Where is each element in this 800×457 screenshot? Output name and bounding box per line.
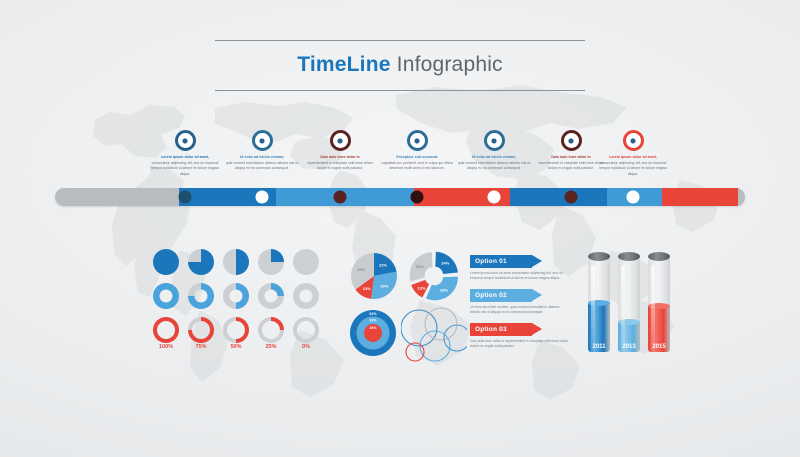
header-rule-bottom (215, 90, 585, 91)
timeline-marker-icon (484, 130, 505, 151)
tube-bar-chart: 201120132015 (588, 252, 678, 357)
percent-circle[interactable] (257, 316, 285, 344)
percent-circle-label: 100% (150, 344, 182, 350)
timeline-item-heading: Ut enim ad minim veniam, (451, 155, 537, 160)
timeline-item-heading: Lorem ipsum dolor sit amet, (142, 155, 228, 160)
tube-bar[interactable]: 2013 (618, 252, 640, 352)
tube-glass: 2013 (618, 257, 640, 352)
svg-text:62%: 62% (369, 312, 377, 316)
timeline-item[interactable]: Lorem ipsum dolor sit amet,consectetur a… (590, 130, 676, 177)
concentric-circles-chart[interactable]: 62%33%26% (347, 306, 403, 362)
percent-circle[interactable] (292, 248, 320, 276)
percent-circle[interactable] (222, 316, 250, 344)
timeline-item-body: reprehenderit in voluptate velit esse ci… (297, 161, 383, 171)
timeline-item-heading: Excepteur sint occaecat (374, 155, 460, 160)
timeline-marker-dot (415, 138, 420, 143)
timeline-marker-dot (492, 138, 497, 143)
timeline-node[interactable] (411, 191, 424, 204)
options-list: Option 01Lorem ipsum dolor sit amet cons… (470, 255, 575, 355)
percent-circle-column: 50% (220, 248, 252, 344)
infographic-canvas: TimeLine Infographic Lorem ipsum dolor s… (0, 0, 800, 457)
option-banner-arrow-icon (532, 255, 542, 267)
svg-text:30%: 30% (380, 283, 388, 288)
timeline-item-body: consectetur adipiscing elit, sed do eius… (142, 161, 228, 177)
center-charts: 22%30%13%35% 24%33%13%30% 62%33%26% (345, 250, 470, 365)
header-rule-top (215, 40, 585, 41)
tube-gloss (591, 265, 595, 353)
timeline-node[interactable] (334, 191, 347, 204)
tube-cap (648, 252, 670, 261)
timeline-segment (662, 188, 738, 206)
timeline-item-body: quis nostrud exercitation ullamco labori… (219, 161, 305, 171)
svg-text:33%: 33% (369, 319, 377, 323)
percent-circle-column: 75% (185, 248, 217, 344)
option-banner[interactable]: Option 01 (470, 255, 548, 268)
timeline-marker-dot (183, 138, 188, 143)
timeline-item-body: cupidatat non proident, sunt in culpa qu… (374, 161, 460, 171)
timeline-item[interactable]: Duis aute irure dolor inreprehenderit in… (297, 130, 383, 172)
option-banner[interactable]: Option 02 (470, 289, 548, 302)
option-text: Duis aute irure dolor in reprehenderit i… (470, 339, 570, 349)
timeline-segment (510, 188, 607, 206)
timeline-node[interactable] (179, 191, 192, 204)
percent-circle-column: 0% (290, 248, 322, 344)
percent-circle-label: 0% (290, 344, 322, 350)
timeline-marker-dot (569, 138, 574, 143)
timeline-marker-dot (631, 138, 636, 143)
timeline-marker-icon (175, 130, 196, 151)
svg-text:13%: 13% (363, 286, 371, 291)
option-label: Option 03 (475, 323, 507, 336)
timeline-item-body: consectetur adipiscing elit, sed do eius… (590, 161, 676, 177)
header: TimeLine Infographic (215, 40, 585, 95)
option-text: Ut enim ad minim veniam, quis nostrud ex… (470, 305, 570, 315)
timeline-item[interactable]: Ut enim ad minim veniam,quis nostrud exe… (451, 130, 537, 172)
title-accent: TimeLine (297, 53, 390, 76)
percent-circle[interactable] (187, 282, 215, 310)
timeline-item[interactable]: Lorem ipsum dolor sit amet,consectetur a… (142, 130, 228, 177)
option-item[interactable]: Option 01Lorem ipsum dolor sit amet cons… (470, 255, 575, 281)
timeline-item[interactable]: Excepteur sint occaecatcupidatat non pro… (374, 130, 460, 172)
svg-text:30%: 30% (416, 264, 424, 269)
percent-circle-grid: 100%75%50%25%0% (150, 248, 330, 363)
percent-circle[interactable] (257, 282, 285, 310)
timeline-node[interactable] (626, 191, 639, 204)
timeline-marker-icon (252, 130, 273, 151)
percent-circle[interactable] (292, 316, 320, 344)
timeline-marker-icon (561, 130, 582, 151)
percent-circle-column: 100% (150, 248, 182, 344)
percent-circle[interactable] (187, 248, 215, 276)
option-banner[interactable]: Option 03 (470, 323, 548, 336)
svg-text:26%: 26% (369, 326, 377, 330)
percent-circle[interactable] (152, 316, 180, 344)
tube-cap (618, 252, 640, 261)
pie-chart[interactable]: 22%30%13%35% (345, 250, 403, 306)
svg-text:35%: 35% (357, 267, 365, 272)
timeline-item-heading: Lorem ipsum dolor sit amet, (590, 155, 676, 160)
svg-text:13%: 13% (418, 285, 426, 290)
timeline: Lorem ipsum dolor sit amet,consectetur a… (0, 130, 800, 220)
percent-circle[interactable] (187, 316, 215, 344)
timeline-marker-icon (407, 130, 428, 151)
tube-bar[interactable]: 2011 (588, 252, 610, 352)
timeline-marker-dot (338, 138, 343, 143)
percent-circle[interactable] (152, 282, 180, 310)
donut-chart[interactable]: 24%33%13%30% (403, 250, 465, 306)
timeline-item-heading: Duis aute irure dolor in (297, 155, 383, 160)
timeline-item-heading: Ut enim ad minim veniam, (219, 155, 305, 160)
svg-text:24%: 24% (441, 261, 449, 266)
tube-glass: 2011 (588, 257, 610, 352)
option-item[interactable]: Option 02Ut enim ad minim veniam, quis n… (470, 289, 575, 315)
timeline-item[interactable]: Ut enim ad minim veniam,quis nostrud exe… (219, 130, 305, 172)
percent-circle[interactable] (222, 282, 250, 310)
option-banner-arrow-icon (532, 289, 542, 301)
tube-cap (588, 252, 610, 261)
option-label: Option 01 (475, 255, 507, 268)
timeline-marker-dot (260, 138, 265, 143)
title-rest: Infographic (391, 53, 503, 76)
timeline-node[interactable] (488, 191, 501, 204)
percent-circle-column: 25% (255, 248, 287, 344)
tube-gloss (621, 265, 625, 353)
timeline-node[interactable] (256, 191, 269, 204)
tube-gloss (651, 265, 655, 353)
option-item[interactable]: Option 03Duis aute irure dolor in repreh… (470, 323, 575, 349)
percent-circle[interactable] (292, 282, 320, 310)
percent-circle[interactable] (257, 248, 285, 276)
option-banner-arrow-icon (532, 323, 542, 335)
percent-circle-label: 25% (255, 344, 287, 350)
percent-circle[interactable] (222, 248, 250, 276)
option-label: Option 02 (475, 289, 507, 302)
percent-circle[interactable] (152, 248, 180, 276)
percent-circle-label: 75% (185, 344, 217, 350)
overlapping-rings-chart[interactable] (401, 306, 467, 362)
page-title: TimeLine Infographic (215, 51, 585, 79)
timeline-marker-icon (623, 130, 644, 151)
timeline-marker-icon (330, 130, 351, 151)
timeline-item-body: quis nostrud exercitation ullamco labori… (451, 161, 537, 171)
timeline-node[interactable] (565, 191, 578, 204)
option-text: Lorem ipsum dolor sit amet consectetur a… (470, 271, 570, 281)
timeline-bar[interactable] (55, 188, 745, 206)
percent-circle-label: 50% (220, 344, 252, 350)
tube-bar[interactable]: 2015 (648, 252, 670, 352)
svg-text:33%: 33% (440, 287, 448, 292)
svg-text:22%: 22% (379, 263, 387, 268)
tube-glass: 2015 (648, 257, 670, 352)
